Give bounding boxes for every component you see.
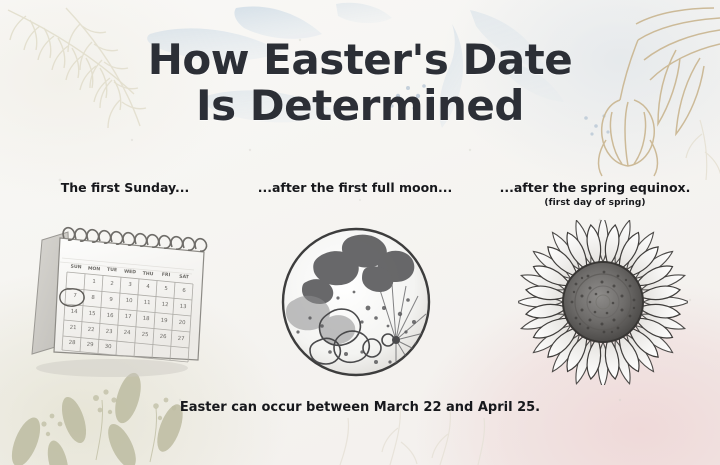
- svg-text:18: 18: [142, 316, 150, 322]
- title-line-2: Is Determined: [0, 83, 720, 129]
- svg-text:WED: WED: [124, 269, 137, 276]
- step-caption-text: ...after the spring equinox.: [500, 180, 691, 195]
- footer-note-text: Easter can occur between March 22 and Ap…: [180, 400, 540, 415]
- step-subcaption-text: (first day of spring): [470, 198, 720, 208]
- svg-text:16: 16: [106, 313, 114, 319]
- svg-text:1: 1: [92, 279, 96, 285]
- step-caption-spring-equinox: ...after the spring equinox. (first day …: [470, 180, 720, 208]
- title-line-1: How Easter's Date: [0, 37, 720, 83]
- svg-text:22: 22: [87, 327, 94, 333]
- svg-text:27: 27: [177, 336, 184, 342]
- sage-leaves-bottomleft: [6, 370, 188, 465]
- svg-text:12: 12: [161, 302, 168, 308]
- svg-text:5: 5: [164, 286, 168, 292]
- svg-text:20: 20: [178, 320, 186, 326]
- svg-text:19: 19: [160, 318, 168, 324]
- svg-text:15: 15: [88, 311, 95, 317]
- svg-text:MON: MON: [88, 266, 101, 273]
- svg-text:3: 3: [128, 282, 132, 288]
- svg-text:26: 26: [159, 334, 167, 340]
- svg-text:29: 29: [86, 342, 94, 348]
- step-caption-text: ...after the first full moon...: [258, 180, 453, 195]
- svg-text:11: 11: [143, 300, 150, 306]
- step-caption-full-moon: ...after the first full moon...: [215, 180, 495, 195]
- svg-text:SUN: SUN: [70, 264, 81, 271]
- svg-text:30: 30: [104, 344, 112, 350]
- svg-text:7: 7: [73, 293, 77, 299]
- full-moon-icon: [276, 222, 436, 382]
- svg-text:2: 2: [110, 281, 114, 287]
- svg-text:23: 23: [105, 329, 112, 335]
- svg-text:TUE: TUE: [107, 267, 117, 274]
- infographic-poster: How Easter's Date Is Determined The firs…: [0, 0, 720, 465]
- svg-text:25: 25: [141, 332, 148, 338]
- svg-text:17: 17: [124, 314, 131, 320]
- step-caption-first-sunday: The first Sunday...: [0, 180, 250, 195]
- svg-text:28: 28: [68, 340, 76, 346]
- page-title: How Easter's Date Is Determined: [0, 37, 720, 129]
- cream-sprig-rightedge: [686, 120, 720, 180]
- svg-text:13: 13: [179, 304, 186, 310]
- footer-note: Easter can occur between March 22 and Ap…: [0, 400, 720, 415]
- sunflower-icon: [518, 220, 688, 385]
- svg-text:THU: THU: [143, 271, 154, 278]
- svg-text:14: 14: [70, 309, 78, 315]
- svg-text:21: 21: [69, 325, 76, 331]
- svg-text:24: 24: [123, 330, 131, 336]
- calendar-icon: SUN MON TUE WED THU FRI SAT: [26, 222, 216, 382]
- step-caption-text: The first Sunday...: [61, 180, 190, 195]
- svg-text:10: 10: [125, 298, 133, 304]
- svg-text:SAT: SAT: [179, 274, 190, 281]
- svg-text:FRI: FRI: [162, 272, 171, 279]
